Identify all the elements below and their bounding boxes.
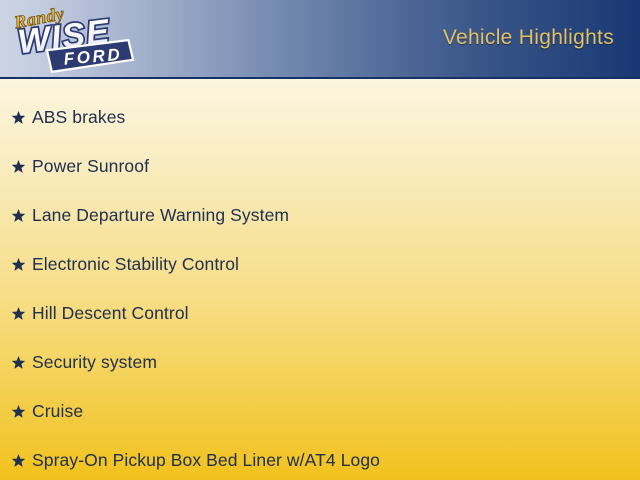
- list-item: Cruise: [0, 387, 640, 436]
- list-item-label: Spray-On Pickup Box Bed Liner w/AT4 Logo: [32, 452, 380, 470]
- list-item-label: Electronic Stability Control: [32, 256, 239, 274]
- list-item: ABS brakes: [0, 93, 640, 142]
- list-item-label: ABS brakes: [32, 109, 125, 127]
- header-bar: Randy WISE FORD Vehicle Highlights: [0, 0, 640, 79]
- svg-text:FORD: FORD: [63, 45, 123, 69]
- list-item-label: Lane Departure Warning System: [32, 207, 289, 225]
- list-item: Electronic Stability Control: [0, 240, 640, 289]
- star-icon: [8, 206, 28, 226]
- page-title: Vehicle Highlights: [443, 26, 614, 50]
- star-icon: [8, 451, 28, 471]
- dealer-logo: Randy WISE FORD: [4, 2, 140, 80]
- list-item-label: Security system: [32, 354, 157, 372]
- star-icon: [8, 402, 28, 422]
- list-item: Lane Departure Warning System: [0, 191, 640, 240]
- list-item: Spray-On Pickup Box Bed Liner w/AT4 Logo: [0, 436, 640, 480]
- list-item: Security system: [0, 338, 640, 387]
- vehicle-highlights-list: ABS brakes Power Sunroof Lane Departure …: [0, 79, 640, 480]
- list-item-label: Hill Descent Control: [32, 305, 189, 323]
- randy-wise-ford-logo-graphic: Randy WISE FORD: [4, 2, 140, 80]
- list-item-label: Cruise: [32, 403, 83, 421]
- star-icon: [8, 255, 28, 275]
- list-item-label: Power Sunroof: [32, 158, 149, 176]
- list-item: Hill Descent Control: [0, 289, 640, 338]
- star-icon: [8, 304, 28, 324]
- star-icon: [8, 157, 28, 177]
- vehicle-highlights-slide: Randy WISE FORD Vehicle Highlights ABS b…: [0, 0, 640, 480]
- star-icon: [8, 353, 28, 373]
- star-icon: [8, 108, 28, 128]
- list-item: Power Sunroof: [0, 142, 640, 191]
